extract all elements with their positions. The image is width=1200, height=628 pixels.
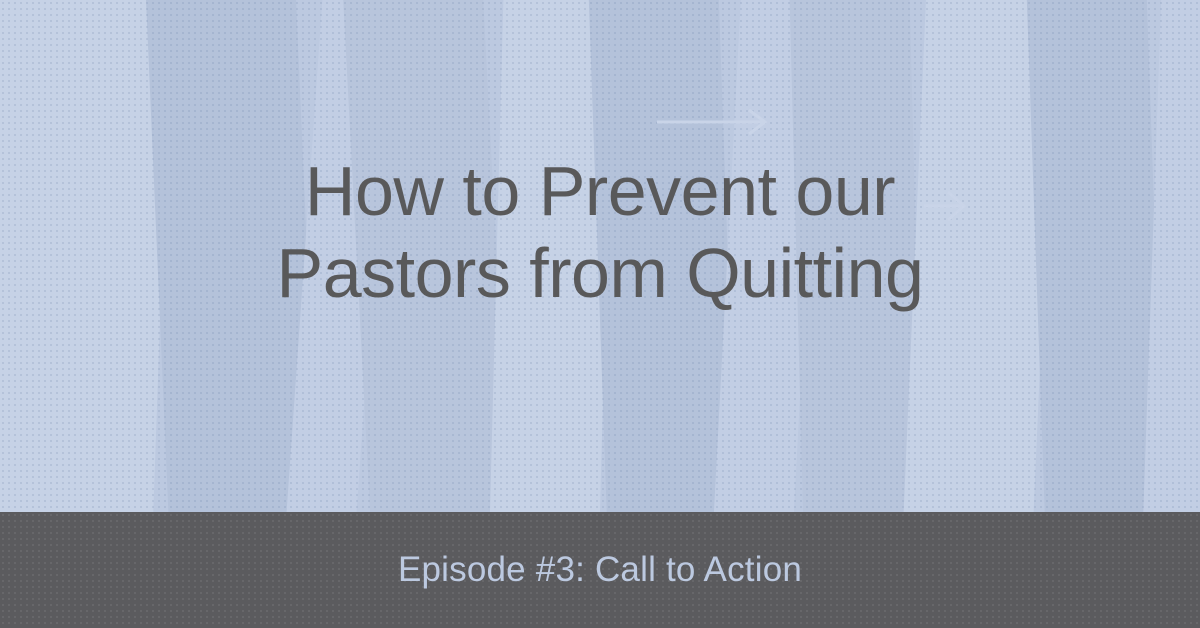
- slide-title: How to Prevent our Pastors from Quitting: [0, 150, 1200, 314]
- footer-bar: Episode #3: Call to Action: [0, 512, 1200, 628]
- title-line-2: Pastors from Quitting: [0, 232, 1200, 314]
- slide-canvas: How to Prevent our Pastors from Quitting…: [0, 0, 1200, 628]
- footer-episode-label: Episode #3: Call to Action: [0, 512, 1200, 628]
- title-line-1: How to Prevent our: [0, 150, 1200, 232]
